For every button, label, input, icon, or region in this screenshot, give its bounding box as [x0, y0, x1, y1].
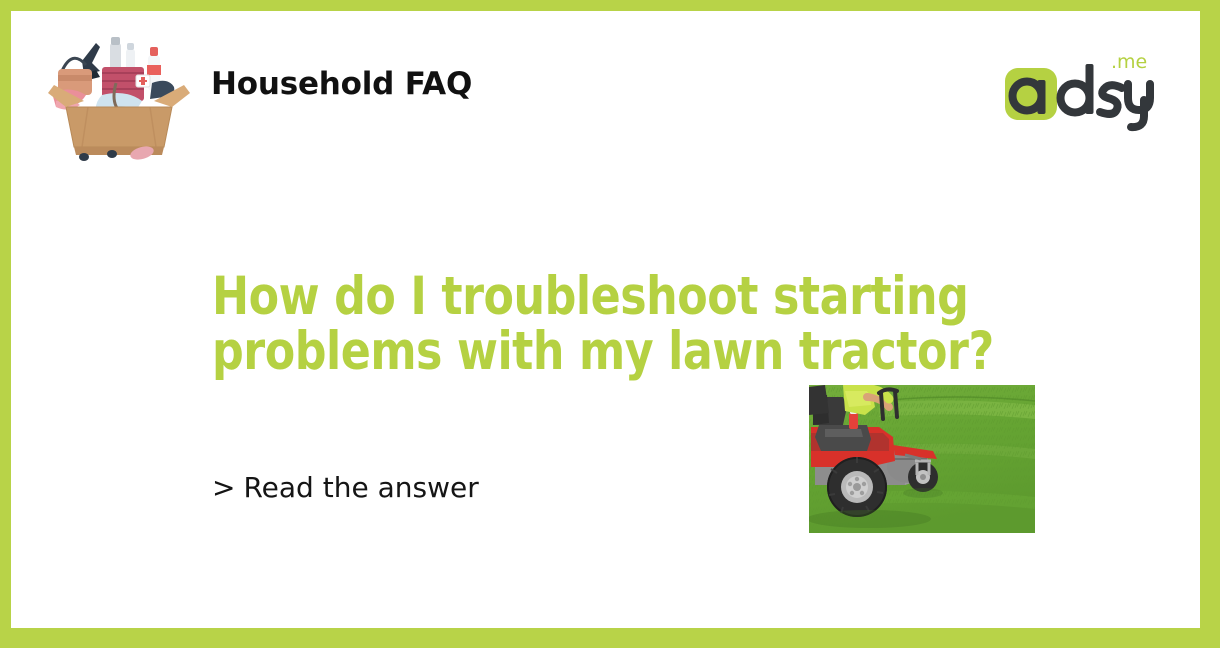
- lawn-tractor-photo: [809, 385, 1035, 533]
- read-the-answer-link[interactable]: >Read the answer: [212, 471, 479, 504]
- question-line-2: problems with my lawn tractor?: [212, 324, 1077, 379]
- question-heading: How do I troubleshoot starting problems …: [212, 269, 1077, 379]
- page-title: Household FAQ: [211, 66, 472, 102]
- svg-text:.me: .me: [1111, 51, 1147, 73]
- chevron-right-icon: >: [212, 471, 235, 504]
- page-content: Household FAQ: [11, 11, 1200, 628]
- read-the-answer-label: Read the answer: [243, 471, 478, 504]
- page-card: Household FAQ: [0, 0, 1220, 648]
- question-line-1: How do I troubleshoot starting: [212, 269, 1077, 324]
- page-header: Household FAQ: [11, 11, 1200, 171]
- household-box-illustration-icon: [44, 23, 194, 163]
- adsy-logo[interactable]: .me: [991, 46, 1156, 141]
